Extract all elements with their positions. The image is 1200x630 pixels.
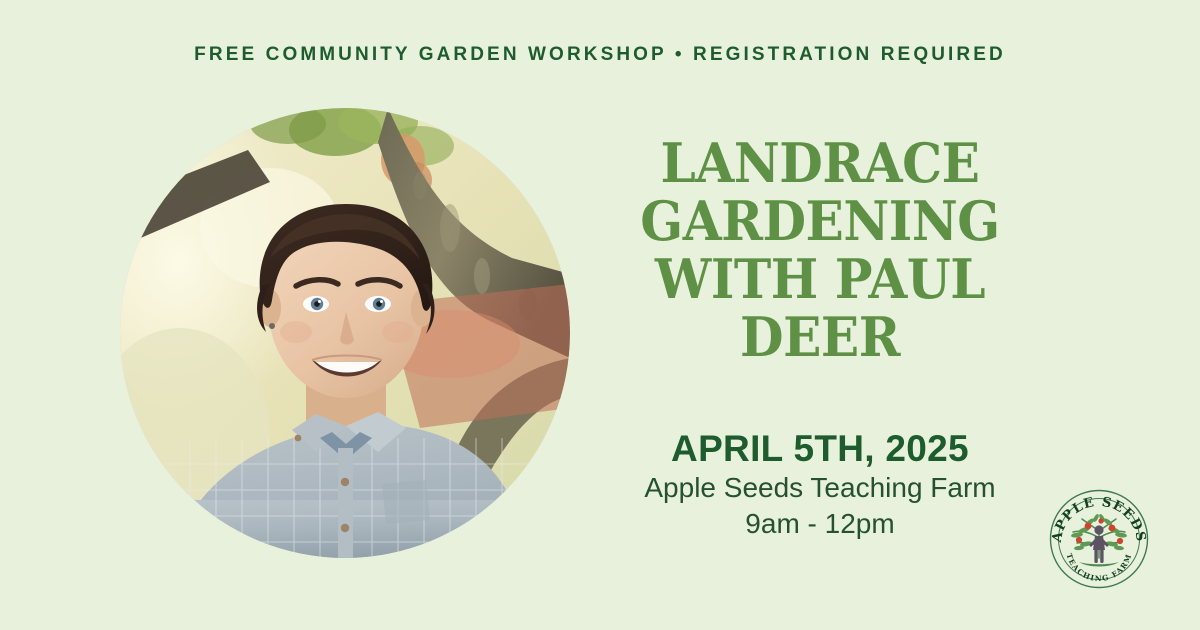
event-date: APRIL 5TH, 2025: [600, 428, 1040, 470]
event-poster: FREE COMMUNITY GARDEN WORKSHOP • REGISTR…: [0, 0, 1200, 630]
event-title: LANDRACE GARDENING WITH PAUL DEER: [600, 134, 1040, 366]
title-line-4: DEER: [615, 308, 1024, 366]
speaker-portrait-photo: [120, 108, 570, 558]
title-line-3: WITH PAUL: [615, 250, 1024, 308]
event-time: 9am - 12pm: [600, 506, 1040, 542]
header-eyebrow-text: FREE COMMUNITY GARDEN WORKSHOP • REGISTR…: [0, 44, 1200, 66]
apple-seeds-teaching-farm-logo: APPLE SEEDS TEACHING FARM: [1046, 486, 1152, 592]
title-line-1: LANDRACE: [615, 134, 1024, 192]
event-venue: Apple Seeds Teaching Farm: [600, 470, 1040, 506]
event-details: APRIL 5TH, 2025 Apple Seeds Teaching Far…: [600, 428, 1040, 542]
title-line-2: GARDENING: [615, 192, 1024, 250]
